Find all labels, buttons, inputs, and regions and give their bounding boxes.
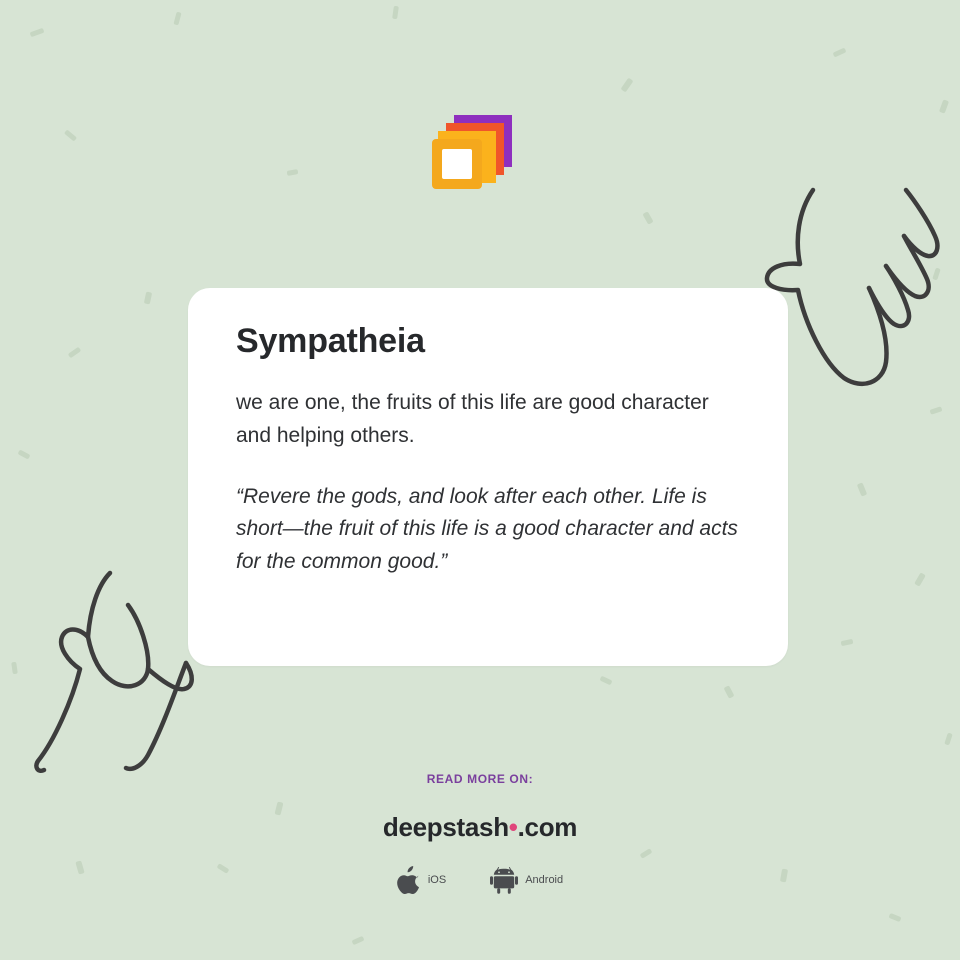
apple-icon [397,866,421,894]
brand-tld: .com [518,812,577,842]
confetti-speck [841,639,854,646]
confetti-speck [30,28,45,37]
store-badges: iOS Android [0,866,960,894]
confetti-speck [944,733,952,746]
confetti-speck [621,78,634,93]
store-label-android: Android [525,874,563,886]
store-badge-ios[interactable]: iOS [397,866,446,894]
confetti-speck [144,292,152,305]
confetti-speck [642,211,653,224]
page-title: Sympatheia [236,322,740,361]
confetti-speck [287,169,299,176]
confetti-speck [930,406,943,414]
brand-dot: • [509,812,518,842]
read-more-label: READ MORE ON: [0,772,960,786]
confetti-speck [724,685,735,698]
android-icon [490,866,518,894]
confetti-speck [939,99,949,113]
store-label-ios: iOS [428,874,446,886]
confetti-speck [857,482,867,496]
card-body-text: we are one, the fruits of this life are … [236,387,740,453]
poster-canvas: Sympatheia we are one, the fruits of thi… [0,0,960,960]
idea-card: Sympatheia we are one, the fruits of thi… [188,288,788,666]
confetti-speck [173,12,181,26]
confetti-speck [889,913,902,922]
confetti-speck [392,6,399,20]
confetti-speck [18,449,31,459]
confetti-speck [352,936,365,945]
card-quote-text: “Revere the gods, and look after each ot… [236,481,740,579]
confetti-speck [600,676,613,686]
deepstash-logo [430,105,516,197]
brand-name: deepstash [383,812,509,842]
brand-wordmark: deepstash•.com [0,812,960,843]
confetti-speck [64,129,77,141]
confetti-speck [833,47,847,57]
store-badge-android[interactable]: Android [490,866,563,894]
confetti-speck [640,848,653,859]
pointing-hand-left-icon [28,565,208,780]
confetti-speck [914,572,926,586]
confetti-speck [11,662,18,675]
confetti-speck [68,347,82,359]
